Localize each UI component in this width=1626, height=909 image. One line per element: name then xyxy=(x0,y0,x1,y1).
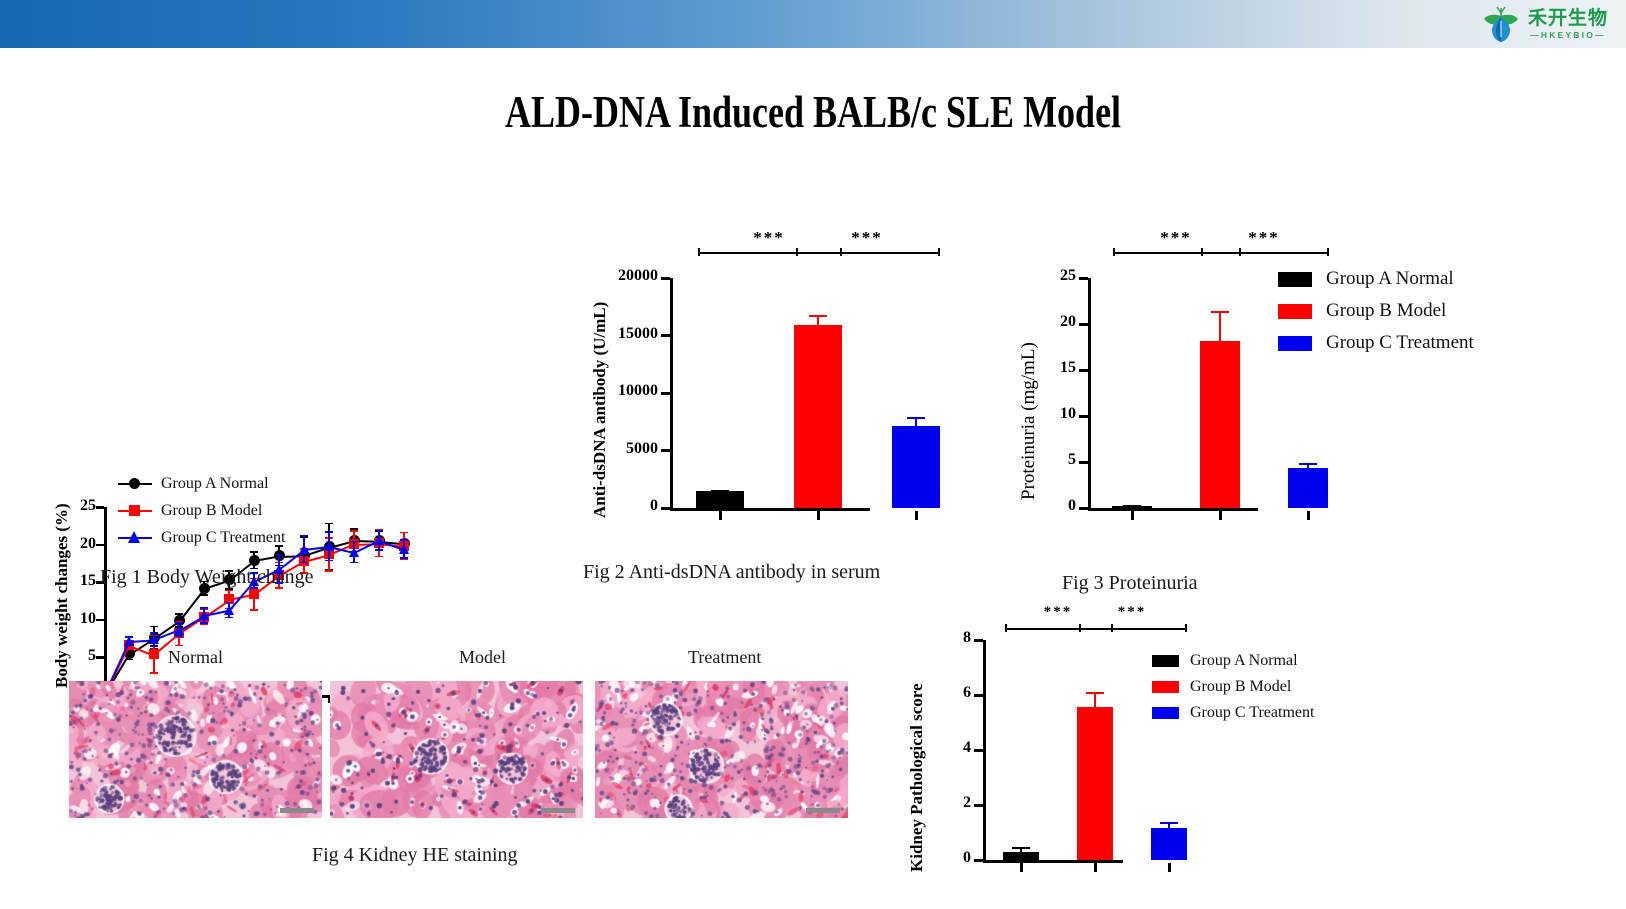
legend-line-A xyxy=(118,483,152,485)
fig5-x-axis xyxy=(983,860,1123,863)
fig2-bar-B xyxy=(794,325,842,508)
histology-treatment xyxy=(595,681,848,818)
fig3-y-tick xyxy=(1079,507,1088,510)
fig5-legend-item-B: Group B Model xyxy=(1152,678,1314,696)
fig1-point-triangle xyxy=(174,625,184,635)
legend-label-C: Group C Treatment xyxy=(1190,704,1314,722)
fig1-legend-item-A: Group A Normal xyxy=(118,475,285,493)
fig5-x-tick xyxy=(1020,863,1023,872)
fig1-legend-item-B: Group B Model xyxy=(118,502,285,520)
legend-label-B: Group B Model xyxy=(1190,678,1291,696)
fig1-legend: Group A NormalGroup B ModelGroup C Treat… xyxy=(118,475,285,556)
fig1-error-cap xyxy=(350,541,358,543)
he-stain-canvas xyxy=(69,681,322,818)
fig1-error-cap xyxy=(375,530,383,532)
histology-label-treatment: Treatment xyxy=(688,647,761,668)
fig1-error-cap xyxy=(375,549,383,551)
fig5-y-axis-label: Kidney Pathological score xyxy=(907,683,927,872)
slide-title: ALD-DNA Induced BALB/c SLE Model xyxy=(163,86,1464,138)
fig1-error-cap xyxy=(150,645,158,647)
fig1-y-tick-label: 25 xyxy=(58,497,96,515)
fig5-sig-marker: *** xyxy=(1110,604,1154,621)
legend-marker-circle xyxy=(129,478,140,489)
fig1-error-cap xyxy=(200,622,208,624)
fig5-legend-item-A: Group A Normal xyxy=(1152,652,1314,670)
fig3-y-tick xyxy=(1079,277,1088,280)
fig5-y-tick-label: 6 xyxy=(947,684,971,702)
fig3-sig-marker: *** xyxy=(1242,228,1286,248)
fig2-error-cap xyxy=(809,315,827,317)
fig2-sig-bracket xyxy=(796,252,938,254)
fig2-x-tick xyxy=(817,511,820,520)
fig1-y-tick xyxy=(96,656,104,659)
fig5-bar-C xyxy=(1151,828,1187,860)
fig1-y-tick-label: 15 xyxy=(58,572,96,590)
fig1-point-triangle xyxy=(349,547,359,557)
fig1-error-cap xyxy=(200,623,208,625)
fig5-error-cap xyxy=(1086,692,1104,694)
fig1-point-triangle xyxy=(199,610,209,620)
fig3-bar-C xyxy=(1288,468,1328,508)
legend-label-A: Group A Normal xyxy=(1190,652,1298,670)
fig3-error-cap xyxy=(1299,463,1317,465)
fig1-error-cap xyxy=(325,560,333,562)
fig1-point-triangle xyxy=(399,544,409,554)
logo-company-name-en: —HKEYBIO— xyxy=(1530,31,1606,40)
fig5-y-tick xyxy=(974,749,983,752)
fig1-error-cap xyxy=(275,554,283,556)
fig5-x-tick xyxy=(1094,863,1097,872)
fig1-y-tick-label: 10 xyxy=(58,610,96,628)
legend-swatch-C xyxy=(1278,336,1312,351)
fig1-point-square xyxy=(149,649,159,659)
fig2-caption: Fig 2 Anti-dsDNA antibody in serum xyxy=(583,561,880,584)
legend-swatch-A xyxy=(1278,272,1312,287)
fig2-sig-marker: *** xyxy=(845,228,889,248)
fig5-legend-item-C: Group C Treatment xyxy=(1152,704,1314,722)
fig3-y-axis-label: Proteinuria (mg/mL) xyxy=(1018,342,1040,500)
fig2-x-tick xyxy=(719,511,722,520)
fig2-x-tick xyxy=(915,511,918,520)
fig1-error-cap xyxy=(175,635,183,637)
legend-swatch-A xyxy=(1152,655,1179,667)
fig2-sig-tick xyxy=(698,248,700,256)
fig5-x-tick xyxy=(1168,863,1171,872)
fig1-y-tick xyxy=(96,506,104,509)
fig2-sig-marker: *** xyxy=(747,228,791,248)
fig2-y-tick-label: 15000 xyxy=(584,325,658,343)
fig1-error-cap xyxy=(225,617,233,619)
fig2-x-axis xyxy=(670,508,870,511)
he-stain-canvas xyxy=(330,681,583,818)
fig5-error-cap xyxy=(1012,847,1030,849)
legend-swatch-C xyxy=(1152,707,1179,719)
fig3-sig-tick xyxy=(1327,248,1329,256)
fig5-y-tick-label: 2 xyxy=(947,794,971,812)
fig2-y-tick xyxy=(661,277,670,280)
fig3-y-tick-label: 15 xyxy=(1042,359,1076,377)
fig3-bar-B xyxy=(1200,341,1240,508)
fig3-x-axis xyxy=(1088,508,1258,511)
scale-bar xyxy=(541,808,575,813)
fig3-y-tick-label: 20 xyxy=(1042,313,1076,331)
fig2-anti-dsdna-chart: Anti-dsDNA antibody (U/mL) 0500010000150… xyxy=(570,230,900,530)
fig2-bar-C xyxy=(892,426,940,508)
fig1-error-cap xyxy=(175,645,183,647)
histology-normal xyxy=(69,681,322,818)
fig2-y-tick-label: 20000 xyxy=(584,267,658,285)
fig3-x-tick xyxy=(1307,511,1310,520)
company-logo: 禾开生物 —HKEYBIO— xyxy=(1481,4,1608,44)
fig5-bar-B xyxy=(1077,707,1113,860)
fig5-y-tick-label: 8 xyxy=(947,629,971,647)
fig3-legend-item-A: Group A Normal xyxy=(1278,268,1474,290)
legend-swatch-B xyxy=(1152,681,1179,693)
fig3-y-tick xyxy=(1079,323,1088,326)
page-header: 禾开生物 —HKEYBIO— xyxy=(0,0,1626,48)
fig1-point-triangle xyxy=(224,605,234,615)
fig3-sig-marker: *** xyxy=(1154,228,1198,248)
fig5-error-cap xyxy=(1160,822,1178,824)
fig1-error-cap xyxy=(400,557,408,559)
fig5-y-axis xyxy=(983,640,986,863)
fig2-bar-A xyxy=(696,491,744,508)
fig1-y-tick xyxy=(96,619,104,622)
fig1-point-triangle xyxy=(374,535,384,545)
fig3-error-cap xyxy=(1211,311,1229,313)
fig1-error-cap xyxy=(125,659,133,661)
logo-company-name-cn: 禾开生物 xyxy=(1528,9,1608,28)
fig3-y-tick-label: 25 xyxy=(1042,267,1076,285)
fig3-sig-bracket xyxy=(1201,252,1327,254)
fig5-bar-A xyxy=(1003,852,1039,860)
fig5-sig-tick xyxy=(1079,624,1081,632)
fig5-sig-marker: *** xyxy=(1036,604,1080,621)
fig3-y-tick xyxy=(1079,461,1088,464)
fig1-point-triangle xyxy=(124,636,134,646)
fig1-point-triangle xyxy=(149,634,159,644)
fig1-error-cap xyxy=(400,532,408,534)
fig2-y-tick-label: 0 xyxy=(584,497,658,515)
fig1-point-circle xyxy=(249,555,260,566)
fig1-point-square xyxy=(249,589,259,599)
fig3-legend: Group A NormalGroup B ModelGroup C Treat… xyxy=(1278,268,1474,364)
fig1-y-tick xyxy=(96,544,104,547)
scale-bar xyxy=(806,808,840,813)
fig3-x-tick xyxy=(1219,511,1222,520)
fig5-legend: Group A NormalGroup B ModelGroup C Treat… xyxy=(1152,652,1314,730)
fig3-sig-tick xyxy=(1113,248,1115,256)
fig3-y-axis xyxy=(1088,278,1091,511)
fig5-sig-tick xyxy=(1185,624,1187,632)
fig1-legend-label-B: Group B Model xyxy=(161,502,262,520)
legend-marker-square xyxy=(129,505,140,516)
fig1-y-axis xyxy=(104,507,107,698)
legend-label-C: Group C Treatment xyxy=(1326,332,1474,354)
fig2-y-tick-label: 10000 xyxy=(584,382,658,400)
legend-line-C xyxy=(118,537,152,539)
scale-bar xyxy=(280,808,314,813)
fig2-y-tick xyxy=(661,334,670,337)
fig1-legend-item-C: Group C Treatment xyxy=(118,529,285,547)
fig1-point-triangle xyxy=(299,544,309,554)
fig1-error-cap xyxy=(400,539,408,541)
legend-label-B: Group B Model xyxy=(1326,300,1446,322)
fig3-legend-item-C: Group C Treatment xyxy=(1278,332,1474,354)
fig1-error-cap xyxy=(350,530,358,532)
fig3-proteinuria-chart: Proteinuria (mg/mL) 0510152025****** xyxy=(1000,230,1300,530)
fig1-error-cap xyxy=(150,626,158,628)
fig1-legend-label-C: Group C Treatment xyxy=(161,529,285,547)
fig1-error-cap xyxy=(225,602,233,604)
fig3-y-tick-label: 5 xyxy=(1042,451,1076,469)
fig3-x-tick xyxy=(1131,511,1134,520)
fig1-error-cap xyxy=(350,562,358,564)
fig5-y-tick xyxy=(974,859,983,862)
fig2-error-cap xyxy=(711,490,729,492)
fig1-error-cap xyxy=(400,559,408,561)
fig5-error-bar xyxy=(1094,692,1096,707)
fig1-caption: Fig 1 Body Weight change xyxy=(100,566,314,589)
legend-marker-triangle xyxy=(128,531,140,543)
fig5-sig-tick xyxy=(1005,624,1007,632)
legend-label-A: Group A Normal xyxy=(1326,268,1454,290)
legend-line-B xyxy=(118,510,152,512)
fig5-sig-bracket xyxy=(1079,628,1185,630)
fig3-sig-tick xyxy=(1201,248,1203,256)
fig5-y-tick xyxy=(974,639,983,642)
fig1-body-weight-chart: Body weight changes (%) Weeks after admi… xyxy=(0,230,470,530)
fig3-y-tick-label: 10 xyxy=(1042,405,1076,423)
fig1-error-cap xyxy=(200,607,208,609)
fig5-y-tick xyxy=(974,694,983,697)
fig5-y-tick-label: 4 xyxy=(947,739,971,757)
fig1-error-cap xyxy=(250,609,258,611)
fig1-error-cap xyxy=(325,570,333,572)
fig5-y-tick-label: 0 xyxy=(947,849,971,867)
legend-swatch-B xyxy=(1278,304,1312,319)
fig1-y-tick-label: 5 xyxy=(58,647,96,665)
fig3-error-cap xyxy=(1123,505,1141,507)
fig1-error-cap xyxy=(275,545,283,547)
he-stain-canvas xyxy=(595,681,848,818)
histology-label-model: Model xyxy=(459,647,506,668)
fig1-error-cap xyxy=(375,556,383,558)
fig1-point-triangle xyxy=(324,541,334,551)
leaf-droplet-icon xyxy=(1481,4,1521,44)
fig2-sig-tick xyxy=(938,248,940,256)
fig1-error-cap xyxy=(300,562,308,564)
fig3-y-tick xyxy=(1079,369,1088,372)
fig2-y-axis xyxy=(670,278,673,511)
fig1-error-cap xyxy=(325,531,333,533)
fig3-error-bar xyxy=(1219,311,1221,341)
fig1-y-tick-label: 20 xyxy=(58,535,96,553)
fig1-error-cap xyxy=(175,622,183,624)
fig1-error-cap xyxy=(150,632,158,634)
fig2-y-tick xyxy=(661,507,670,510)
histology-model xyxy=(330,681,583,818)
fig1-error-cap xyxy=(225,590,233,592)
fig3-y-tick-label: 0 xyxy=(1042,497,1076,515)
fig1-legend-label-A: Group A Normal xyxy=(161,475,269,493)
fig3-caption: Fig 3 Proteinuria xyxy=(1062,572,1198,595)
fig5-kidney-score-chart: Kidney Pathological score 02468****** xyxy=(895,610,1135,875)
fig5-y-tick xyxy=(974,804,983,807)
fig4-caption: Fig 4 Kidney HE staining xyxy=(312,844,518,867)
fig1-error-cap xyxy=(325,523,333,525)
fig1-error-cap xyxy=(300,535,308,537)
fig2-error-cap xyxy=(907,417,925,419)
histology-label-normal: Normal xyxy=(168,647,223,668)
fig2-y-tick xyxy=(661,449,670,452)
fig3-legend-item-B: Group B Model xyxy=(1278,300,1474,322)
fig2-sig-tick xyxy=(796,248,798,256)
fig1-error-cap xyxy=(200,594,208,596)
fig2-y-tick-label: 5000 xyxy=(584,440,658,458)
fig1-error-cap xyxy=(250,551,258,553)
fig3-y-tick xyxy=(1079,415,1088,418)
fig1-error-cap xyxy=(150,672,158,674)
fig2-y-tick xyxy=(661,392,670,395)
